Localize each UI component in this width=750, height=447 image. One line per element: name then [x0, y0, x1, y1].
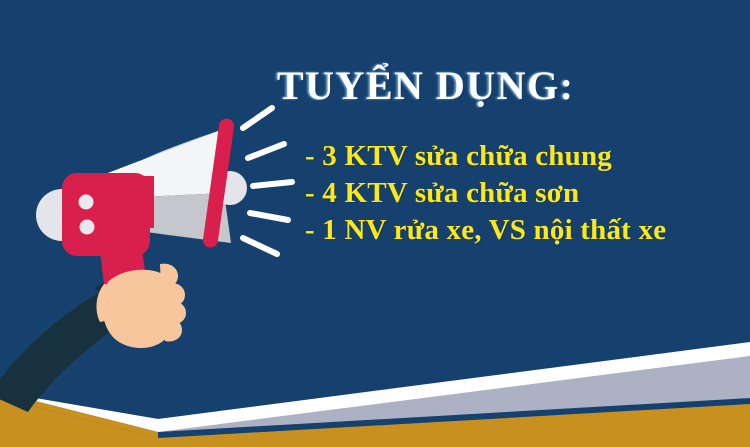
- page-title: TUYỂN DỤNG:: [277, 66, 575, 106]
- list-item: - 4 KTV sửa chữa sơn: [305, 175, 666, 212]
- text-layer: TUYỂN DỤNG: - 3 KTV sửa chữa chung - 4 K…: [0, 0, 750, 447]
- positions-list: - 3 KTV sửa chữa chung - 4 KTV sửa chữa …: [305, 138, 666, 249]
- recruitment-poster: TUYỂN DỤNG: - 3 KTV sửa chữa chung - 4 K…: [0, 0, 750, 447]
- list-item: - 3 KTV sửa chữa chung: [305, 138, 666, 175]
- list-item: - 1 NV rửa xe, VS nội thất xe: [305, 212, 666, 249]
